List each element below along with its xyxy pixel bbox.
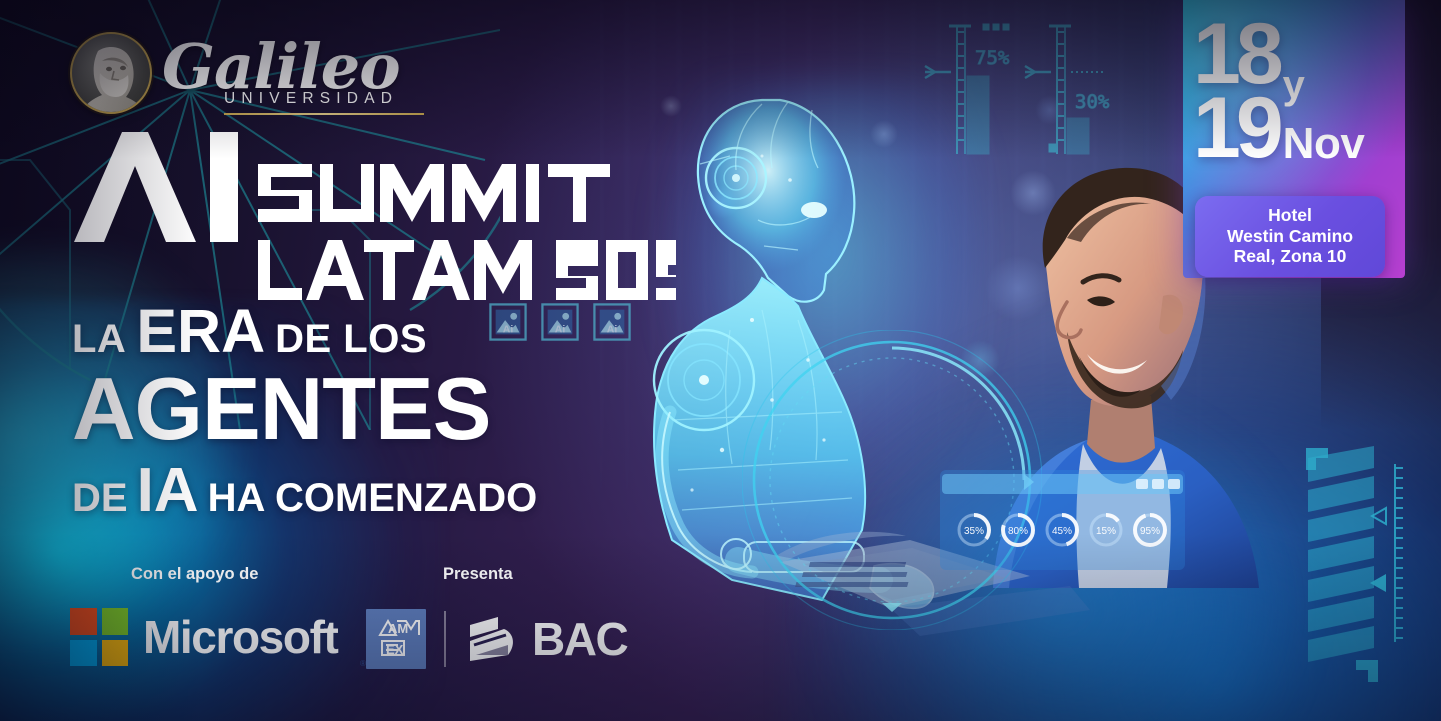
event-banner: 75% 30% 35%80%45%15%95% [0, 0, 1441, 721]
background-vignette [0, 0, 1441, 721]
